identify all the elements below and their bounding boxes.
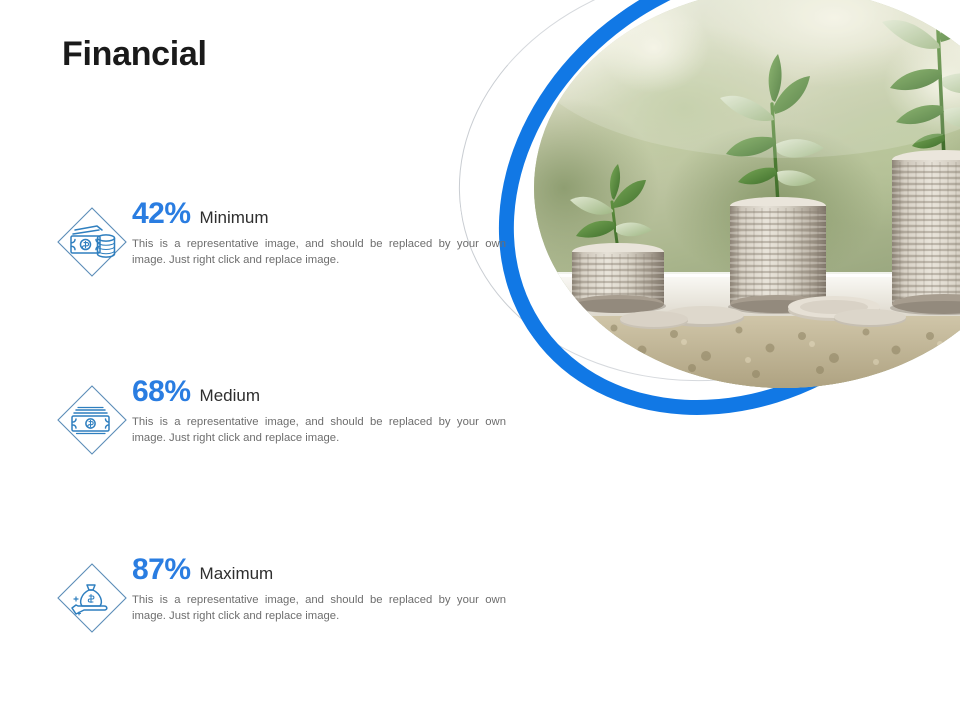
- stat-percent: 68%: [132, 376, 191, 408]
- money-banknotes-coins-icon: [52, 202, 132, 282]
- stat-row[interactable]: 68% Medium This is a representative imag…: [52, 376, 522, 468]
- stat-body: 68% Medium This is a representative imag…: [132, 376, 522, 446]
- stat-percent: 87%: [132, 554, 191, 586]
- stat-label: Medium: [200, 383, 260, 409]
- stat-body: 42% Minimum This is a representative ima…: [132, 198, 522, 268]
- stat-heading: 87% Maximum: [132, 554, 522, 588]
- stat-heading: 68% Medium: [132, 376, 522, 410]
- stat-description: This is a representative image, and shou…: [132, 236, 506, 268]
- stat-row[interactable]: 87% Maximum This is a representative ima…: [52, 554, 522, 646]
- stat-description: This is a representative image, and shou…: [132, 414, 506, 446]
- stat-label: Minimum: [200, 205, 269, 231]
- slide-canvas: Financial: [0, 0, 960, 720]
- cash-stack-icon: [52, 380, 132, 460]
- stat-percent: 42%: [132, 198, 191, 230]
- page-title: Financial: [62, 33, 207, 75]
- circular-artwork: [452, 0, 960, 422]
- stat-description: This is a representative image, and shou…: [132, 592, 506, 624]
- stat-row[interactable]: 42% Minimum This is a representative ima…: [52, 198, 522, 290]
- hand-holding-money-bag-icon: [52, 558, 132, 638]
- stat-body: 87% Maximum This is a representative ima…: [132, 554, 522, 624]
- stat-label: Maximum: [200, 561, 274, 587]
- stat-heading: 42% Minimum: [132, 198, 522, 232]
